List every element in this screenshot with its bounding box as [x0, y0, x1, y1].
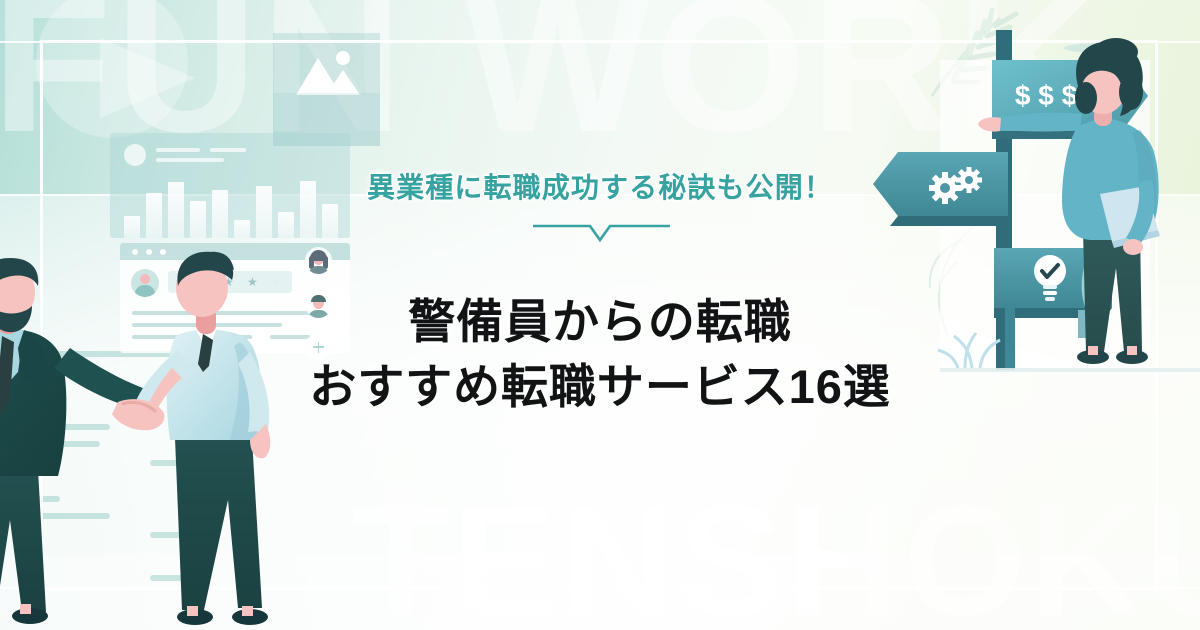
poster-title-line-1: 警備員からの転職: [0, 283, 1200, 352]
man-suit-legs: [0, 470, 46, 612]
man-shirt-legs: [175, 438, 262, 610]
poster-canvas: FUN WORK TENSHOKU: [0, 0, 1200, 630]
title-divider: [0, 218, 1200, 244]
poster-subtitle: 異業種に転職成功する秘訣も公開！: [0, 166, 1200, 206]
poster-title-line-2: おすすめ転職サービス16選: [0, 348, 1200, 417]
